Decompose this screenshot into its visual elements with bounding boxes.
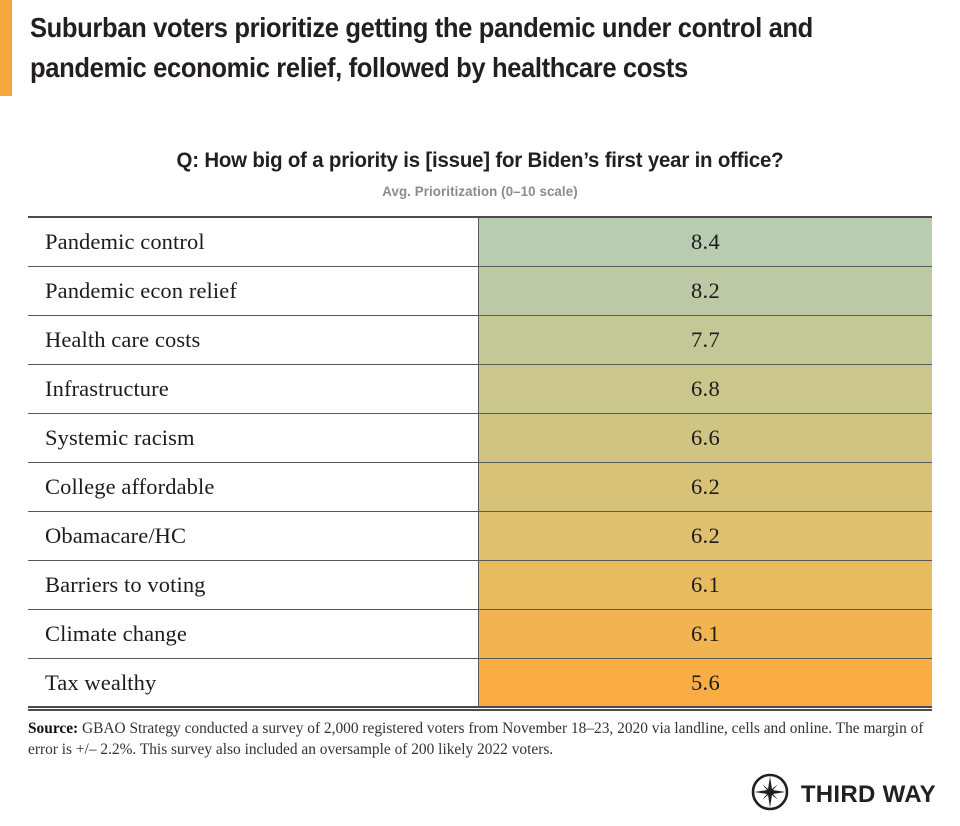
issue-label: College affordable [28,463,478,511]
table-row: Health care costs7.7 [28,316,932,365]
table-row: Pandemic econ relief8.2 [28,267,932,316]
chart-question: Q: How big of a priority is [issue] for … [24,148,936,173]
priority-value: 8.2 [478,267,932,315]
infographic-page: Suburban voters prioritize getting the p… [0,0,960,826]
compass-star-icon [750,772,790,817]
issue-label: Pandemic control [28,218,478,266]
issue-label: Infrastructure [28,365,478,413]
third-way-logo: THIRD WAY [750,772,936,817]
priority-value: 5.6 [478,659,932,706]
table-row: Systemic racism6.6 [28,414,932,463]
table-row: Tax wealthy5.6 [28,659,932,708]
accent-bar [0,0,12,96]
priority-value: 8.4 [478,218,932,266]
priority-value: 6.6 [478,414,932,462]
table-row: Pandemic control8.4 [28,218,932,267]
priority-value: 6.1 [478,610,932,658]
priority-value: 6.2 [478,512,932,560]
priority-value: 7.7 [478,316,932,364]
priority-table: Pandemic control8.4Pandemic econ relief8… [28,216,932,708]
source-divider [28,709,932,711]
page-title: Suburban voters prioritize getting the p… [30,8,867,88]
header: Suburban voters prioritize getting the p… [0,0,960,100]
issue-label: Climate change [28,610,478,658]
priority-value: 6.1 [478,561,932,609]
priority-value: 6.2 [478,463,932,511]
table-row: College affordable6.2 [28,463,932,512]
source-text: GBAO Strategy conducted a survey of 2,00… [28,720,923,758]
table-row: Infrastructure6.8 [28,365,932,414]
priority-value: 6.8 [478,365,932,413]
issue-label: Health care costs [28,316,478,364]
issue-label: Barriers to voting [28,561,478,609]
table-row: Climate change6.1 [28,610,932,659]
source-label: Source: [28,720,78,737]
table-row: Obamacare/HC6.2 [28,512,932,561]
chart-subtitle: Avg. Prioritization (0–10 scale) [24,183,936,199]
table-row: Barriers to voting6.1 [28,561,932,610]
source-note: Source: GBAO Strategy conducted a survey… [28,718,936,761]
issue-label: Obamacare/HC [28,512,478,560]
issue-label: Pandemic econ relief [28,267,478,315]
logo-wordmark: THIRD WAY [801,781,936,809]
issue-label: Systemic racism [28,414,478,462]
issue-label: Tax wealthy [28,659,478,706]
